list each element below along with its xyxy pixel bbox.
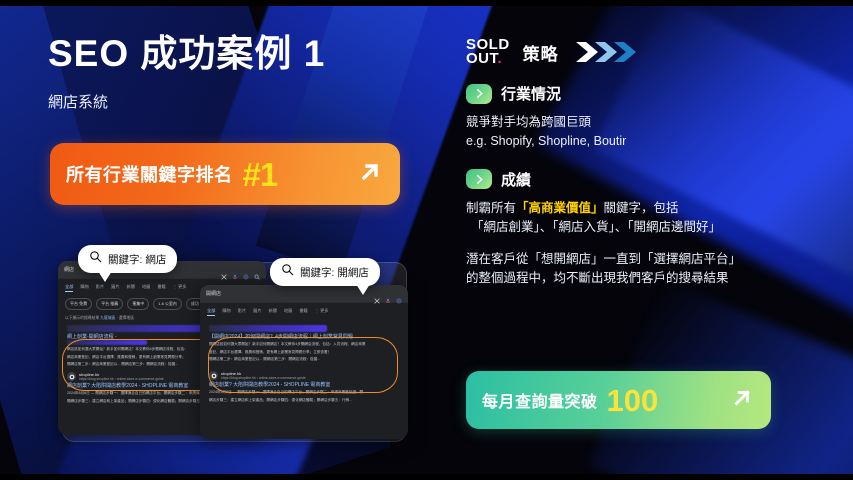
logo-line-2-text: OUT [466, 50, 498, 67]
redacted-bar [209, 325, 327, 332]
slide-canvas: SEO 成功案例 1 網店系統 所有行業關鍵字排名 #1 網店 [0, 0, 853, 480]
magnifier-icon [89, 250, 102, 268]
browser-tab[interactable]: 新聞 [269, 308, 277, 316]
browser-tab[interactable]: 購物 [222, 308, 230, 316]
section-line: e.g. Shopify, Shopline, Boutir [466, 132, 841, 151]
bottom-edge-bar [0, 474, 853, 480]
browser-tab[interactable]: 全部 [65, 284, 73, 292]
monthly-enquiry-label: 每月查詢量突破 [482, 388, 598, 412]
magnifier-icon[interactable] [254, 267, 260, 273]
filter-chip[interactable]: 蒐集中 [127, 298, 149, 310]
search-bar-icons [374, 291, 402, 297]
browser-tab[interactable]: 新聞 [127, 284, 135, 292]
browser-tab[interactable]: 書籍 [299, 308, 307, 316]
chevron-right-badge-icon [466, 84, 492, 104]
section-results: 成績 制霸所有「高商業價值」關鍵字，包括 「網店創業」、「網店入貨」、「開網店邊… [466, 169, 841, 289]
browser-tab[interactable]: 影片 [238, 308, 246, 316]
soldout-logo: SOLD OUT. [466, 38, 510, 66]
browser-tab[interactable]: 書籍 [157, 284, 165, 292]
highlight-ring [208, 337, 398, 393]
browser-tab[interactable]: 地圖 [142, 284, 150, 292]
browser-tab-more[interactable]: ⋮ 更多 [315, 308, 329, 316]
close-icon[interactable] [374, 291, 380, 297]
arrow-up-right-icon [729, 385, 755, 416]
left-column: SEO 成功案例 1 網店系統 [48, 34, 428, 112]
section-line: 競爭對手均為跨國巨頭 [466, 113, 841, 132]
keyword-callout-1: 關鍵字: 網店 [78, 245, 177, 273]
monthly-enquiry-banner[interactable]: 每月查詢量突破 100 [466, 371, 771, 429]
browser-tab[interactable]: 購物 [80, 284, 88, 292]
browser-screenshot-keyword-2[interactable]: 開網店 全部 購物 影片 圖片 新聞 [200, 285, 408, 439]
microphone-icon[interactable] [385, 291, 391, 297]
browser-tabs[interactable]: 全部 購物 影片 圖片 新聞 地圖 書籍 ⋮ 更多 [200, 303, 408, 319]
section-line: 的整個過程中，均不斷出現我們客戶的搜尋結果 [466, 269, 841, 288]
page-subtitle: 網店系統 [48, 91, 428, 112]
section-line-part: 關鍵字，包括 [604, 201, 679, 215]
section-body: 競爭對手均為跨國巨頭 e.g. Shopify, Shopline, Bouti… [466, 113, 841, 152]
browser-tab[interactable]: 影片 [96, 284, 104, 292]
microphone-icon[interactable] [232, 267, 238, 273]
filter-chip[interactable]: 1.6 公里內 [153, 298, 182, 310]
filter-chip[interactable]: 平台 免費 [65, 298, 92, 310]
browser-search-bar[interactable]: 開網店 [200, 285, 408, 303]
section-header: 行業情況 [466, 83, 841, 104]
section-line: 「網店創業」、「網店入貨」、「開網店邊間好」 [466, 218, 841, 237]
keyword-callout-label: 關鍵字: 開網店 [300, 265, 369, 280]
browser-tab[interactable]: 圖片 [253, 308, 261, 316]
chevrons-right-icon [574, 38, 638, 66]
browser-tab-more[interactable]: ⋮ 更多 [173, 284, 187, 292]
arrow-up-right-icon [356, 158, 384, 191]
section-header: 成績 [466, 169, 841, 190]
magnifier-icon [281, 263, 294, 281]
chevron-right-badge-icon [466, 169, 492, 189]
keyword-ranking-number: #1 [243, 158, 278, 191]
browser-tab[interactable]: 全部 [207, 308, 215, 316]
section-body: 制霸所有「高商業價值」關鍵字，包括 「網店創業」、「網店入貨」、「開網店邊間好」… [466, 199, 841, 289]
keyword-callout-2: 關鍵字: 開網店 [270, 258, 380, 286]
brand-header: SOLD OUT. 策略 [466, 38, 841, 66]
google-lens-icon[interactable] [396, 291, 402, 297]
top-edge-bar [0, 0, 853, 6]
search-bar-icons [221, 267, 260, 273]
search-result-snippet: 網店步驟三：建立網店和上架產品；開網店步驟四：優化網店體驗；開網店步驟五：行銷.… [209, 398, 399, 404]
keyword-ranking-label: 所有行業關鍵字排名 [66, 161, 233, 187]
section-industry: 行業情況 競爭對手均為跨國巨頭 e.g. Shopify, Shopline, … [466, 83, 841, 152]
monthly-enquiry-number: 100 [607, 385, 659, 416]
google-lens-icon[interactable] [243, 267, 249, 273]
page-title: SEO 成功案例 1 [48, 34, 428, 75]
highlighted-phrase: 「高商業價值」 [516, 201, 604, 215]
right-column: SOLD OUT. 策略 行業情況 [466, 38, 841, 288]
browser-tab[interactable]: 地圖 [284, 308, 292, 316]
section-title: 成績 [501, 169, 531, 190]
browser-tab[interactable]: 圖片 [111, 284, 119, 292]
search-query-text: 網店 [64, 266, 74, 273]
logo-line-2: OUT. [466, 52, 510, 66]
section-line: 潛在客戶從「想開網店」一直到「選擇網店平台」 [466, 250, 841, 269]
keyword-callout-label: 關鍵字: 網店 [108, 252, 166, 267]
search-query-text: 開網店 [206, 290, 221, 297]
location-note-prefix: 以下顯示的搜尋結果 [65, 316, 99, 320]
brand-word: 策略 [523, 40, 559, 65]
filter-chip[interactable]: 平台 推薦 [96, 298, 123, 310]
logo-dot: . [498, 50, 503, 67]
close-icon[interactable] [221, 267, 227, 273]
location-note-link[interactable]: 九龍城區 [100, 316, 115, 320]
section-title: 行業情況 [501, 83, 561, 104]
section-line: 制霸所有「高商業價值」關鍵字，包括 [466, 199, 841, 218]
section-line-part: 制霸所有 [466, 201, 516, 215]
keyword-ranking-banner[interactable]: 所有行業關鍵字排名 #1 [50, 143, 400, 205]
location-note-suffix: · 選擇地區 [116, 316, 134, 320]
